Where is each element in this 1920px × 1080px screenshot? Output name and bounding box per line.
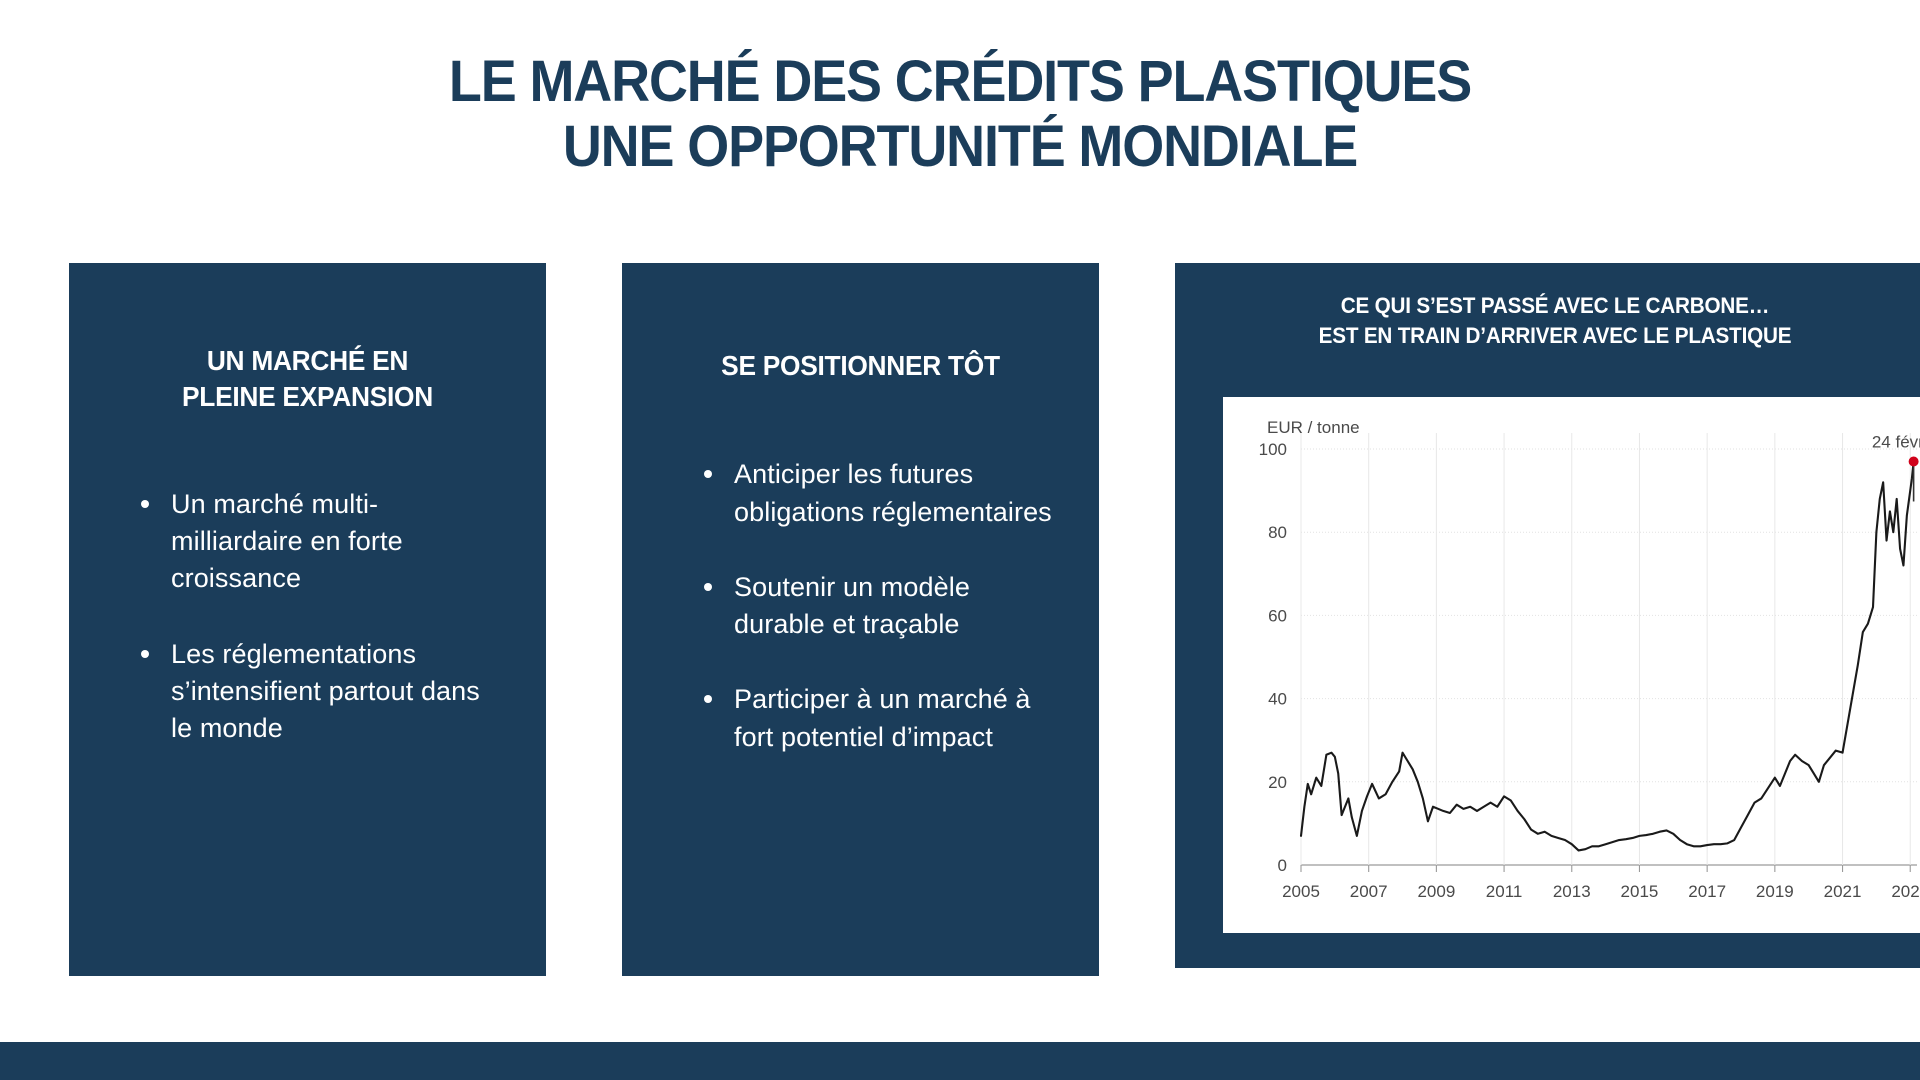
- card-carbone-plastique: CE QUI S’EST PASSÉ AVEC LE CARBONE… EST …: [1175, 263, 1920, 968]
- list-item: Anticiper les futures obligations réglem…: [702, 456, 1055, 531]
- chart-axis-label-y: EUR / tonne: [1267, 418, 1360, 437]
- chart-x-tick: 2019: [1756, 882, 1794, 901]
- card-1-heading-line-1: UN MARCHÉ EN: [207, 345, 408, 376]
- chart-x-tick: 2011: [1486, 882, 1523, 901]
- chart-marker-dot: [1909, 456, 1919, 466]
- card-marche-expansion: UN MARCHÉ EN PLEINE EXPANSION Un marché …: [69, 263, 546, 976]
- card-se-positionner: SE POSITIONNER TÔT Anticiper les futures…: [622, 263, 1099, 976]
- card-3-heading: CE QUI S’EST PASSÉ AVEC LE CARBONE… EST …: [1224, 291, 1886, 352]
- carbon-price-chart-panel: 020406080100 200520072009201120132015201…: [1223, 397, 1920, 933]
- chart-x-tick: 2009: [1417, 882, 1455, 901]
- card-2-heading: SE POSITIONNER TÔT: [674, 348, 1047, 384]
- chart-x-tick: 2013: [1553, 882, 1591, 901]
- footer-bar: [0, 1042, 1920, 1080]
- card-3-heading-line-1: CE QUI S’EST PASSÉ AVEC LE CARBONE…: [1341, 293, 1770, 318]
- chart-x-tick: 2021: [1824, 882, 1862, 901]
- chart-x-tick: 2017: [1688, 882, 1726, 901]
- page-title-line-2: UNE OPPORTUNITÉ MONDIALE: [67, 115, 1853, 180]
- list-item: Les réglementations s’intensifient parto…: [139, 636, 502, 748]
- card-row: UN MARCHÉ EN PLEINE EXPANSION Un marché …: [0, 263, 1920, 976]
- chart-y-tick: 0: [1278, 856, 1287, 875]
- chart-annotation-label: 24 févr.: [1872, 432, 1920, 451]
- list-item: Soutenir un modèle durable et traçable: [702, 569, 1055, 644]
- list-item: Participer à un marché à fort potentiel …: [702, 681, 1055, 756]
- card-2-bullet-list: Anticiper les futures obligations réglem…: [702, 456, 1055, 756]
- list-item: Un marché multi-milliardaire en forte cr…: [139, 486, 502, 598]
- page-title-line-1: LE MARCHÉ DES CRÉDITS PLASTIQUES: [67, 50, 1853, 115]
- chart-x-tick: 2007: [1350, 882, 1388, 901]
- chart-x-tick: 2023: [1891, 882, 1920, 901]
- chart-y-tick: 80: [1268, 523, 1287, 542]
- card-3-heading-line-2: EST EN TRAIN D’ARRIVER AVEC LE PLASTIQUE: [1319, 323, 1792, 348]
- chart-x-tick: 2015: [1621, 882, 1659, 901]
- card-1-heading-line-2: PLEINE EXPANSION: [182, 381, 433, 412]
- chart-y-tick: 40: [1268, 690, 1287, 709]
- chart-y-tick: 60: [1268, 606, 1287, 625]
- page-title: LE MARCHÉ DES CRÉDITS PLASTIQUES UNE OPP…: [67, 50, 1853, 180]
- card-1-bullet-list: Un marché multi-milliardaire en forte cr…: [139, 486, 502, 748]
- chart-y-tick: 100: [1259, 440, 1287, 459]
- chart-y-tick: 20: [1268, 773, 1287, 792]
- carbon-price-chart: 020406080100 200520072009201120132015201…: [1223, 397, 1920, 933]
- card-1-heading: UN MARCHÉ EN PLEINE EXPANSION: [121, 343, 494, 416]
- chart-x-tick: 2005: [1282, 882, 1320, 901]
